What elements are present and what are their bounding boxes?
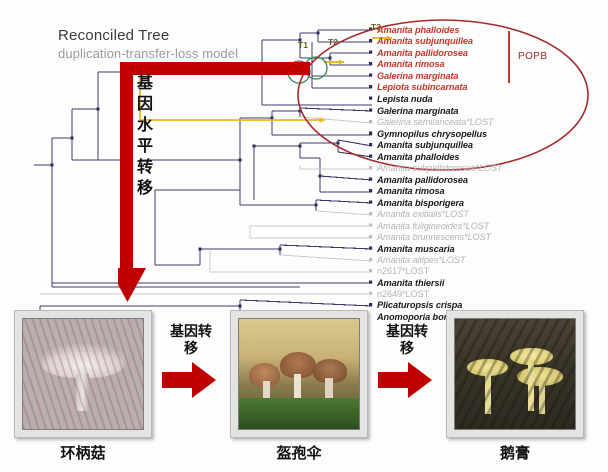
tree-tip-label: n2617*LOST [377, 267, 429, 276]
photo-frame-galerina [230, 310, 368, 438]
gene-transfer-text-2: 基因转移 [386, 324, 428, 357]
photo-frame-amanita [446, 310, 584, 438]
figure-canvas: Reconciled Tree duplication-transfer-los… [0, 0, 608, 472]
tree-tip-label: Amanita phalloides [377, 26, 459, 35]
tree-tip-label: Galerina marginata [377, 107, 458, 116]
gene-transfer-label-1: 基因转移 [168, 324, 214, 358]
tree-tip-label: Galerina semilanceata*LOST [377, 118, 493, 127]
tree-tip-label: Amanita exitialis*LOST [377, 210, 469, 219]
tree-tip-label: Plicaturopsis crispa [377, 301, 462, 310]
tree-tip-label: Amanita rimosa [377, 60, 445, 69]
photo-lepiota [22, 318, 144, 430]
gene-transfer-text-1: 基因转移 [170, 324, 212, 357]
tree-tip-label: Amanita thiersii [377, 279, 444, 288]
photo-galerina [238, 318, 360, 430]
photo-amanita [454, 318, 576, 430]
tree-tip-label: Amanita brunnescens*LOST [377, 233, 491, 242]
tree-tip-label: Amanita pallidorosea [377, 176, 468, 185]
tree-tip-label: Lepiota subincarnata [377, 83, 467, 92]
transfer-label-t1: T1 [298, 40, 308, 50]
gene-transfer-arrow-2 [378, 362, 436, 402]
tree-tip-label: Amanita subjunquillea [377, 37, 473, 46]
tree-tip-label: Amanita pallidorosea [377, 49, 468, 58]
tree-tip-label: Amanita fuligineoides*LOST [377, 222, 489, 231]
tree-tip-label: Lepista nuda [377, 95, 432, 104]
caption-lepiota: 环柄菇 [14, 442, 152, 463]
gene-transfer-arrow-1 [162, 362, 220, 402]
caption-galerina: 盔孢伞 [230, 442, 368, 463]
hgt-vertical-label: 基因水平转移 [134, 72, 156, 198]
popb-bracket [508, 31, 510, 83]
popb-label: POPB [518, 51, 547, 62]
tree-tip-label: Amanita phalloides [377, 153, 459, 162]
tree-tip-label: Amanita subjunquillea [377, 141, 473, 150]
photo-frame-lepiota [14, 310, 152, 438]
tree-tip-label: Gymnopilus chrysopellus [377, 130, 487, 139]
tree-tip-label: n2649*LOST [377, 290, 429, 299]
caption-amanita: 鹅膏 [446, 442, 584, 463]
tree-tip-label: Amanita muscaria [377, 245, 455, 254]
tree-tip-label: Amanita bisporigera [377, 199, 464, 208]
gene-transfer-label-2: 基因转移 [384, 324, 430, 358]
tree-tip-label: Amanita altipes*LOST [377, 256, 465, 265]
tree-tip-label: Amanita subpallidorosea*LOST [377, 164, 502, 173]
transfer-label-t2: T2 [328, 37, 338, 47]
tree-tip-label: Galerina marginata [377, 72, 458, 81]
tree-tip-label: Amanita rimosa [377, 187, 445, 196]
